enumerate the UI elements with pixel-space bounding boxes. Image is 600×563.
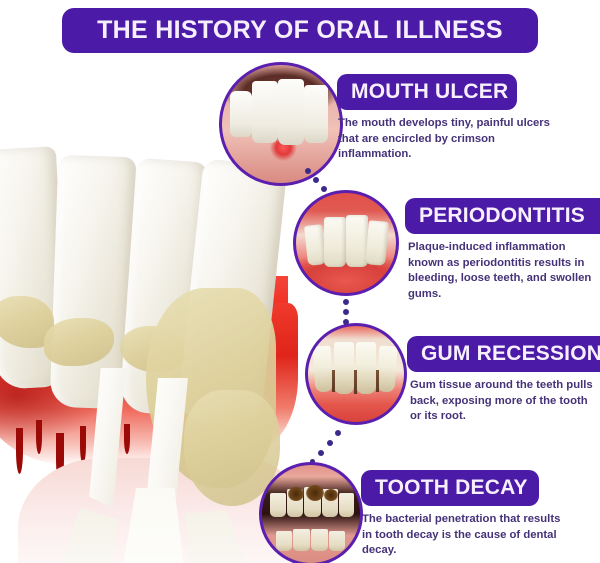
recession-gap [354, 370, 357, 394]
connector-dot [335, 430, 341, 436]
mouth-ulcer-photo-content [222, 65, 340, 183]
photo-tooth-lower [293, 529, 310, 551]
page-title: THE HISTORY OF ORAL ILLNESS [97, 16, 503, 45]
photo-tooth [278, 79, 304, 145]
decay-lesion [306, 485, 324, 501]
gum-recession-photo-content [308, 326, 404, 422]
blood-drip [16, 428, 23, 474]
recession-gap [376, 370, 379, 392]
connector-dot [343, 299, 349, 305]
section-body-gum-recession: Gum tissue around the teeth pulls back, … [410, 378, 600, 425]
section-label-text: MOUTH ULCER [351, 80, 508, 104]
photo-tooth [334, 342, 354, 394]
photo-tooth-lower [311, 529, 328, 551]
section-label-text: TOOTH DECAY [375, 476, 528, 500]
photo-tooth [376, 345, 397, 392]
section-body-tooth-decay: The bacterial penetration that results i… [362, 512, 562, 559]
photo-tooth [339, 493, 354, 517]
connector-dot [305, 168, 311, 174]
photo-tooth [304, 224, 326, 266]
photo-tooth [365, 220, 389, 266]
recession-gap [332, 370, 335, 392]
tooth-decay-photo-content [262, 465, 360, 563]
section-label-periodontitis: PERIODONTITIS [405, 198, 600, 234]
connector-dot [318, 450, 324, 456]
connector-dot [343, 309, 349, 315]
blood-drip [124, 424, 130, 454]
dental-cross-section-illustration [0, 128, 300, 563]
photo-tooth [324, 217, 346, 267]
photo-tooth [312, 345, 333, 392]
tooth-decay-photo [259, 462, 363, 563]
periodontitis-photo [293, 190, 399, 296]
section-label-tooth-decay: TOOTH DECAY [361, 470, 539, 506]
oral-illness-infographic: THE HISTORY OF ORAL ILLNESS [0, 0, 600, 563]
photo-tooth [252, 81, 278, 143]
section-label-gum-recession: GUM RECESSION [407, 336, 600, 372]
section-label-text: GUM RECESSION [421, 342, 600, 366]
photo-tooth-lower [276, 531, 292, 551]
photo-tooth [356, 342, 376, 394]
photo-tooth [304, 85, 328, 143]
section-body-mouth-ulcer: The mouth develops tiny, painful ulcers … [338, 116, 560, 163]
photo-tooth-lower [329, 531, 345, 551]
section-body-periodontitis: Plaque-induced inflammation known as per… [408, 240, 598, 302]
decay-lesion [324, 489, 338, 501]
gum-recession-photo [305, 323, 407, 425]
periodontitis-photo-content [296, 193, 396, 293]
decay-lesion [288, 487, 304, 501]
connector-dot [313, 177, 319, 183]
section-label-text: PERIODONTITIS [419, 204, 585, 228]
blood-drip [36, 420, 42, 454]
photo-tooth [270, 493, 286, 517]
connector-dot [321, 186, 327, 192]
page-title-banner: THE HISTORY OF ORAL ILLNESS [62, 8, 538, 53]
photo-tooth [230, 91, 252, 137]
connector-dot [327, 440, 333, 446]
section-label-mouth-ulcer: MOUTH ULCER [337, 74, 517, 110]
mouth-ulcer-photo [219, 62, 343, 186]
